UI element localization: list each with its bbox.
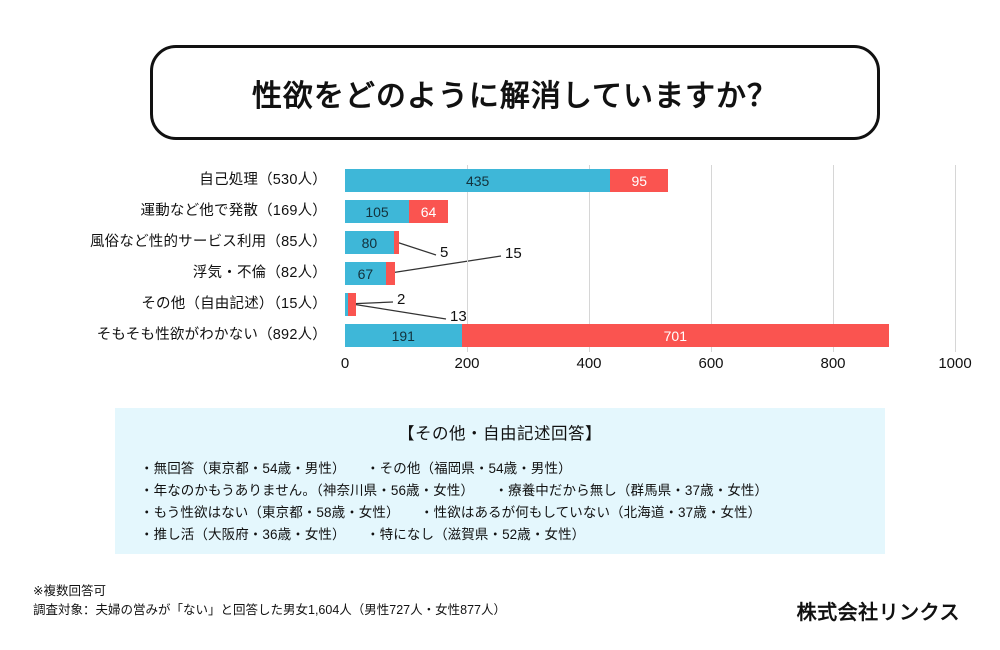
plot-area: 43595105648067191701515213 <box>345 165 955 352</box>
x-tick-label: 600 <box>698 355 723 372</box>
bar-segment-female: 64 <box>409 200 448 223</box>
bar-segment-female: 95 <box>610 169 668 192</box>
free-text-answers-heading: 【その他・自由記述回答】 <box>115 420 885 444</box>
x-tick-label: 1000 <box>938 355 971 372</box>
bar-row: 43595 <box>345 165 955 196</box>
bar-segment-male: 67 <box>345 262 386 285</box>
bar-segment-female <box>386 262 395 285</box>
category-label: 自己処理（530人） <box>0 165 336 196</box>
free-text-answer-line: ・もう性欲はない（東京都・58歳・女性） ・性欲はあるが何もしていない（北海道・… <box>115 502 885 524</box>
company-name: 株式会社リンクス <box>797 596 960 625</box>
x-tick-label: 800 <box>820 355 845 372</box>
bar-value-label: 701 <box>664 328 687 344</box>
x-tick-label: 200 <box>454 355 479 372</box>
bar-segment-female <box>348 293 356 316</box>
bar-segment-male: 80 <box>345 231 394 254</box>
free-text-answers-list: ・無回答（東京都・54歳・男性） ・その他（福岡県・54歳・男性）・年なのかもう… <box>115 458 885 546</box>
free-text-answer-line: ・年なのかもうありません。（神奈川県・56歳・女性） ・療養中だから無し（群馬県… <box>115 480 885 502</box>
category-label: 運動など他で発散（169人） <box>0 196 336 227</box>
bar-segment-female <box>394 231 399 254</box>
bar-row: 80 <box>345 227 955 258</box>
bar-row <box>345 289 955 320</box>
bar-value-label: 80 <box>362 235 378 251</box>
free-text-answer-line: ・無回答（東京都・54歳・男性） ・その他（福岡県・54歳・男性） <box>115 458 885 480</box>
x-tick-label: 400 <box>576 355 601 372</box>
bar-value-callout: 13 <box>450 308 467 325</box>
bar-segment-male: 191 <box>345 324 462 347</box>
gridline <box>955 165 956 352</box>
bar-segment-male: 105 <box>345 200 409 223</box>
bar-value-callout: 5 <box>440 244 448 261</box>
bar-segment-male: 435 <box>345 169 610 192</box>
footer-notes: ※複数回答可 調査対象：夫婦の営みが「ない」と回答した男女1,604人（男性72… <box>33 582 506 620</box>
title-box: 性欲をどのように解消していますか？ <box>150 45 880 140</box>
bar-segment-female: 701 <box>462 324 890 347</box>
bar-value-label: 435 <box>466 173 489 189</box>
free-text-answer-line: ・推し活（大阪府・36歳・女性） ・特になし（滋賀県・52歳・女性） <box>115 524 885 546</box>
bar-row: 191701 <box>345 320 955 351</box>
category-label: その他（自由記述）（15人） <box>0 289 336 320</box>
footer-note-multiple-answers: ※複数回答可 <box>33 582 506 601</box>
bar-value-label: 64 <box>421 204 437 220</box>
bar-value-label: 67 <box>358 266 374 282</box>
bar-value-callout: 15 <box>505 245 522 262</box>
bar-value-callout: 2 <box>397 291 405 308</box>
x-axis-tick-labels: 02004006008001000 <box>345 352 955 382</box>
bar-chart: 自己処理（530人）運動など他で発散（169人）風俗など性的サービス利用（85人… <box>0 165 1000 390</box>
bar-value-label: 95 <box>632 173 648 189</box>
page-title: 性欲をどのように解消していますか？ <box>252 71 778 115</box>
bar-row: 67 <box>345 258 955 289</box>
category-label: 浮気・不倫（82人） <box>0 258 336 289</box>
footer-note-survey-target: 調査対象：夫婦の営みが「ない」と回答した男女1,604人（男性727人・女性87… <box>33 601 506 620</box>
category-axis-labels: 自己処理（530人）運動など他で発散（169人）風俗など性的サービス利用（85人… <box>0 165 336 351</box>
bar-value-label: 191 <box>392 328 415 344</box>
category-label: そもそも性欲がわかない（892人） <box>0 320 336 351</box>
bar-value-label: 105 <box>365 204 388 220</box>
x-tick-label: 0 <box>341 355 349 372</box>
free-text-answers-box: 【その他・自由記述回答】 ・無回答（東京都・54歳・男性） ・その他（福岡県・5… <box>115 408 885 554</box>
bar-row: 10564 <box>345 196 955 227</box>
category-label: 風俗など性的サービス利用（85人） <box>0 227 336 258</box>
